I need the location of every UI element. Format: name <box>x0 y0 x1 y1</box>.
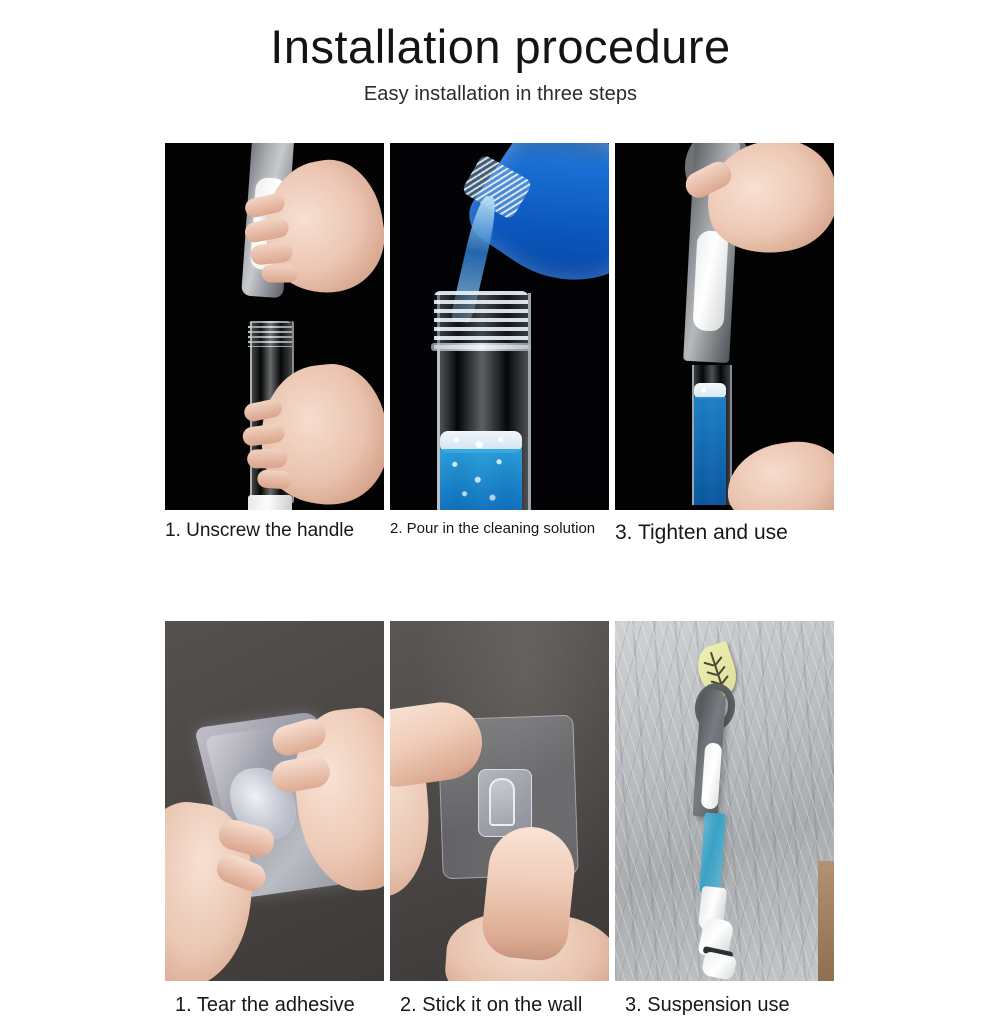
blue-cleaning-solution <box>699 813 726 894</box>
suspension-use-photo <box>615 621 834 981</box>
finger <box>247 448 288 468</box>
handle-white-label <box>701 743 723 810</box>
stick-wall-photo <box>390 621 609 981</box>
wood-trim-edge <box>818 861 834 981</box>
tube-screw-thread <box>434 291 528 349</box>
handle-white-label <box>692 230 728 331</box>
leaf-rib <box>717 666 725 676</box>
step-caption: 3. Tighten and use <box>615 510 834 545</box>
step-caption: 1. Tear the adhesive <box>165 981 384 1017</box>
finger <box>262 264 298 282</box>
tube-bottom-cap <box>248 495 292 510</box>
finger <box>257 469 292 489</box>
blue-cleaning-solution <box>694 397 726 505</box>
step-caption: 2. Pour in the cleaning solution <box>390 510 609 538</box>
finger <box>242 422 286 447</box>
step-caption: 3. Suspension use <box>615 981 834 1017</box>
tube-thread-lip <box>431 343 531 351</box>
step-caption: 1. Unscrew the handle <box>165 510 384 543</box>
tighten-handle-photo <box>615 143 834 510</box>
step-card-tighten-use: 3. Tighten and use <box>615 143 834 545</box>
handle-unscrew-photo <box>165 143 384 510</box>
step-caption: 2. Stick it on the wall <box>390 981 609 1017</box>
page-header: Installation procedure Easy installation… <box>0 0 1001 106</box>
liquid-bubbles <box>440 449 522 510</box>
lower-hand <box>722 435 834 510</box>
page-title: Installation procedure <box>0 0 1001 72</box>
cleaning-brush-tip <box>701 951 737 981</box>
step-card-suspension-use: 3. Suspension use <box>615 621 834 1017</box>
installation-steps-grid: 1. Unscrew the handle 2. Pour in the cle… <box>165 143 834 1017</box>
step-card-tear-adhesive: 1. Tear the adhesive <box>165 621 384 1017</box>
step-card-stick-wall: 2. Stick it on the wall <box>390 621 609 1017</box>
steps-row-assembly: 1. Unscrew the handle 2. Pour in the cle… <box>165 143 834 545</box>
page-subtitle: Easy installation in three steps <box>0 72 1001 106</box>
step-card-unscrew-handle: 1. Unscrew the handle <box>165 143 384 545</box>
left-hand <box>165 797 262 982</box>
pour-solution-photo <box>390 143 609 510</box>
step-card-pour-solution: 2. Pour in the cleaning solution <box>390 143 609 545</box>
tear-adhesive-photo <box>165 621 384 981</box>
leaf-rib <box>714 656 722 666</box>
finger <box>250 241 294 265</box>
steps-row-mounting: 1. Tear the adhesive 2. Stick it on the … <box>165 621 834 1017</box>
finger <box>243 397 284 423</box>
